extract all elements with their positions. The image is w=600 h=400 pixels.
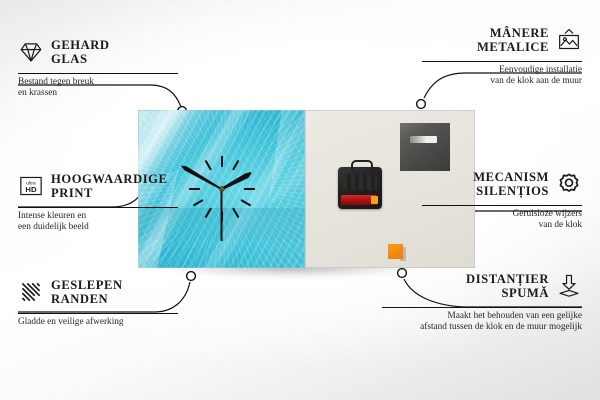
feature-header: MECANISM SILENȚIOS: [422, 170, 582, 199]
beveled-edges-icon: [18, 279, 44, 305]
feature-title: GEHARD GLAS: [51, 38, 110, 67]
feature-description: Geruisloze wijzers van de klok: [422, 209, 582, 232]
feature-rule: [422, 61, 582, 62]
feature-hoogwaardige-print: ultra HD HOOGWAARDIGE PRINT Intense kleu…: [18, 172, 178, 234]
feature-rule: [18, 73, 178, 74]
feature-description: Intense kleuren en een duidelijk beeld: [18, 211, 178, 234]
feature-description: Bestand tegen breuk en krassen: [18, 77, 178, 100]
feature-rule: [18, 313, 178, 314]
foam-spacer: [388, 244, 406, 261]
feature-title: DISTANȚIER SPUMĂ: [382, 272, 549, 301]
metal-hanger-plate: [400, 123, 450, 171]
spacer-arrow-icon: [556, 273, 582, 299]
connector-dot-manere-metalice: [417, 100, 426, 109]
feature-geslepen-randen: GESLEPEN RANDEN Gladde en veilige afwerk…: [18, 278, 178, 328]
svg-text:HD: HD: [25, 185, 37, 194]
feature-description: Gladde en veilige afwerking: [18, 317, 178, 328]
feature-description: Maakt het behouden van een gelijke afsta…: [382, 311, 582, 334]
feature-header: MÂNERE METALICE: [422, 26, 582, 55]
battery-terminal: [371, 196, 378, 204]
feature-header: DISTANȚIER SPUMĂ: [382, 272, 582, 301]
movement-handle: [351, 160, 373, 171]
feature-title: MECANISM SILENȚIOS: [422, 170, 549, 199]
feature-title: GESLEPEN RANDEN: [51, 278, 123, 307]
feature-description: Eenvoudige installatie van de klok aan d…: [422, 65, 582, 88]
feature-title: MÂNERE METALICE: [422, 26, 549, 55]
hanger-slot: [410, 136, 437, 143]
second-hand: [221, 189, 223, 241]
feature-header: GESLEPEN RANDEN: [18, 278, 178, 307]
hand-pivot: [220, 187, 224, 191]
feature-distantier-spuma: DISTANȚIER SPUMĂ Maakt het behouden van …: [382, 272, 582, 334]
battery: [341, 195, 377, 205]
foam-spacer-pad: [388, 244, 403, 259]
feature-header: GEHARD GLAS: [18, 38, 178, 67]
feature-gehard-glas: GEHARD GLAS Bestand tegen breuk en krass…: [18, 38, 178, 100]
feature-mecanism-silentios: MECANISM SILENȚIOS Geruisloze wijzers va…: [422, 170, 582, 232]
wall-mount-picture-icon: [556, 27, 582, 53]
infographic-canvas: GEHARD GLAS Bestand tegen breuk en krass…: [0, 0, 600, 400]
feature-rule: [18, 207, 178, 208]
clock-movement: [338, 167, 382, 209]
feature-manere-metalice: MÂNERE METALICE Eenvoudige installatie v…: [422, 26, 582, 88]
diamond-icon: [18, 39, 44, 65]
movement-panel: [343, 174, 377, 190]
feature-header: ultra HD HOOGWAARDIGE PRINT: [18, 172, 178, 201]
feature-rule: [422, 205, 582, 206]
feature-rule: [382, 307, 582, 308]
ultra-hd-icon: ultra HD: [18, 173, 44, 199]
feature-title: HOOGWAARDIGE PRINT: [51, 172, 167, 201]
gear-icon: [556, 171, 582, 197]
